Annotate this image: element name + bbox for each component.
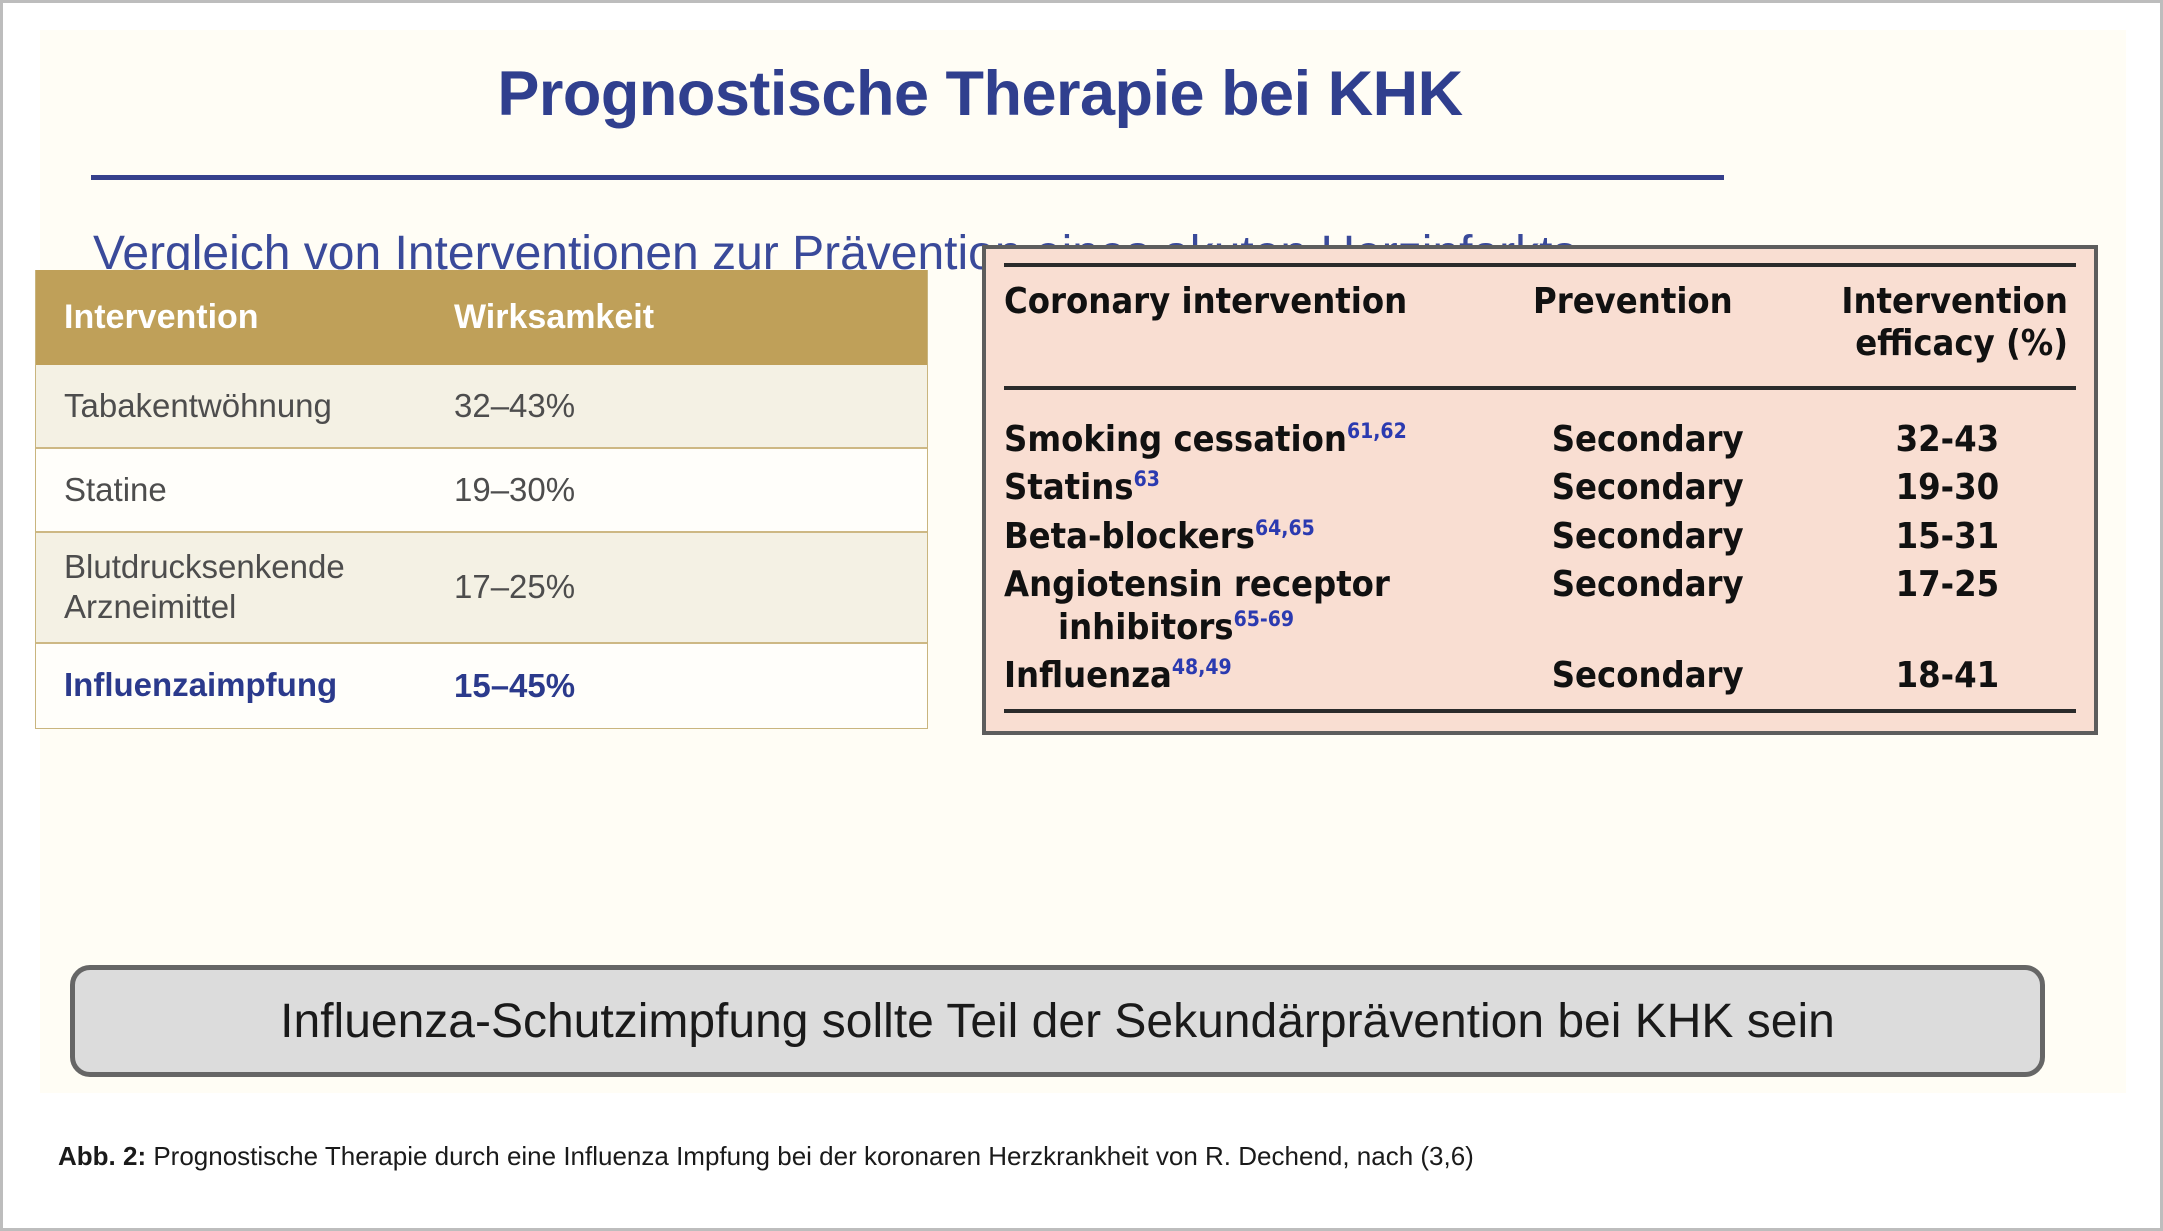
right-row-prevention: Secondary [1552,561,1819,652]
table-row: Blutdrucksenkende Arzneimittel 17–25% [36,533,927,644]
spacer-row [1004,390,2076,416]
left-row-intervention: Influenzaimpfung [64,651,454,719]
table-row: Influenzaimpfung 15–45% [36,644,927,728]
right-table-bottom-rule [1004,709,2076,713]
right-row-intervention: Beta-blockers64,65 [1004,513,1552,561]
conclusion-callout-text: Influenza-Schutzimpfung sollte Teil der … [280,994,1835,1049]
table-row: Statins63 Secondary 19-30 [1004,464,2076,512]
right-header-efficacy-line1: Intervention [1841,281,2068,322]
figure-container: Prognostische Therapie bei KHK Vergleich… [0,0,2163,1231]
table-row: Tabakentwöhnung 32–43% [36,365,927,449]
left-table-header-intervention: Intervention [64,298,454,337]
right-row-prevention: Secondary [1552,416,1819,464]
right-row-efficacy: 17-25 [1819,561,2076,652]
conclusion-callout-box: Influenza-Schutzimpfung sollte Teil der … [70,965,2045,1077]
right-row-efficacy: 19-30 [1819,464,2076,512]
left-row-intervention: Statine [64,456,454,524]
slide-panel: Prognostische Therapie bei KHK Vergleich… [40,30,2126,1093]
table-row: Angiotensin receptorinhibitors65-69 Seco… [1004,561,2076,652]
right-row-intervention-label: Influenza [1004,655,1172,696]
right-row-prevention: Secondary [1552,513,1819,561]
left-row-efficacy: 32–43% [454,387,575,425]
table-row: Statine 19–30% [36,449,927,533]
table-row: Influenza48,49 Secondary 18-41 [1004,652,2076,700]
right-table-header-intervention: Coronary intervention [1004,267,1533,380]
right-row-intervention: Statins63 [1004,464,1552,512]
right-row-efficacy: 15-31 [1819,513,2076,561]
right-row-efficacy: 32-43 [1819,416,2076,464]
left-row-efficacy: 19–30% [454,471,575,509]
left-row-intervention: Blutdrucksenkende Arzneimittel [64,533,454,642]
right-row-intervention: Smoking cessation61,62 [1004,416,1552,464]
right-row-prevention: Secondary [1552,464,1819,512]
reference-superscript: 63 [1134,467,1160,491]
reference-superscript: 64,65 [1255,516,1315,540]
right-row-intervention-label: Smoking cessation [1004,419,1347,460]
left-row-intervention: Tabakentwöhnung [64,372,454,440]
right-row-intervention-label: Statins [1004,467,1134,508]
right-header-efficacy-line2: efficacy (%) [1855,323,2068,364]
left-row-efficacy: 15–45% [454,667,575,705]
right-table-header-prevention: Prevention [1533,267,1803,380]
left-table-header-row: Intervention Wirksamkeit [36,270,927,365]
reference-superscript: 61,62 [1347,419,1407,443]
german-intervention-table: Intervention Wirksamkeit Tabakentwöhnung… [35,270,928,729]
page-title: Prognostische Therapie bei KHK [40,58,1920,130]
left-table-header-efficacy: Wirksamkeit [454,298,654,337]
right-row-prevention: Secondary [1552,652,1819,700]
title-divider-rule [91,175,1724,180]
reference-superscript: 48,49 [1172,655,1232,679]
right-row-intervention-label-line2: inhibitors [1004,607,1234,649]
figure-caption: Abb. 2: Prognostische Therapie durch ein… [58,1141,1474,1172]
figure-caption-label: Abb. 2: [58,1141,146,1171]
right-row-efficacy: 18-41 [1819,652,2076,700]
right-row-intervention: Influenza48,49 [1004,652,1552,700]
table-row: Smoking cessation61,62 Secondary 32-43 [1004,416,2076,464]
right-row-intervention-label: Beta-blockers [1004,516,1255,557]
reference-superscript: 65-69 [1234,607,1294,631]
figure-caption-text: Prognostische Therapie durch eine Influe… [146,1141,1474,1171]
right-table-header-row: Coronary intervention Prevention Interve… [1004,267,2076,380]
english-intervention-table: Coronary intervention Prevention Interve… [982,245,2098,735]
right-row-intervention: Angiotensin receptorinhibitors65-69 [1004,561,1552,652]
left-row-efficacy: 17–25% [454,568,575,606]
table-row: Beta-blockers64,65 Secondary 15-31 [1004,513,2076,561]
right-table-header-efficacy: Intervention efficacy (%) [1803,267,2076,380]
right-row-intervention-label: Angiotensin receptor [1004,564,1390,605]
